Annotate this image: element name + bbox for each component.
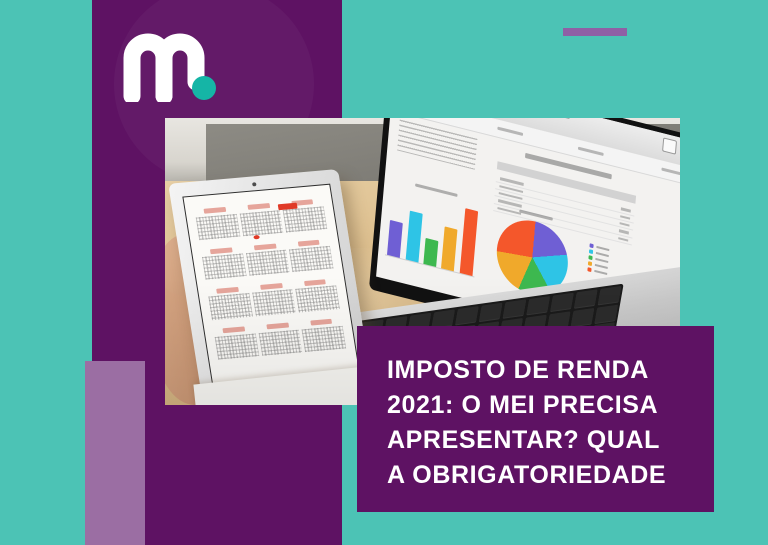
logo-dot-icon [192,76,216,100]
title-card: IMPOSTO DE RENDA 2021: O MEI PRECISA APR… [357,326,714,512]
brand-logo [118,24,228,102]
screen-column-chart [384,177,482,288]
photo-tablet-screen [182,184,360,389]
photo-tablet-camera [252,182,257,186]
screen-toolbar-icons [662,137,680,159]
letter-m-logo-icon [118,24,228,102]
accent-block-bottom-left [85,361,145,545]
photo-tablet-calendar [194,199,347,366]
screen-chart-legend [587,243,609,276]
poster-canvas: IMPOSTO DE RENDA 2021: O MEI PRECISA APR… [0,0,768,545]
screen-column-chart-plot [385,186,481,278]
accent-bar-top-right [563,28,627,36]
page-title: IMPOSTO DE RENDA 2021: O MEI PRECISA APR… [387,353,684,493]
